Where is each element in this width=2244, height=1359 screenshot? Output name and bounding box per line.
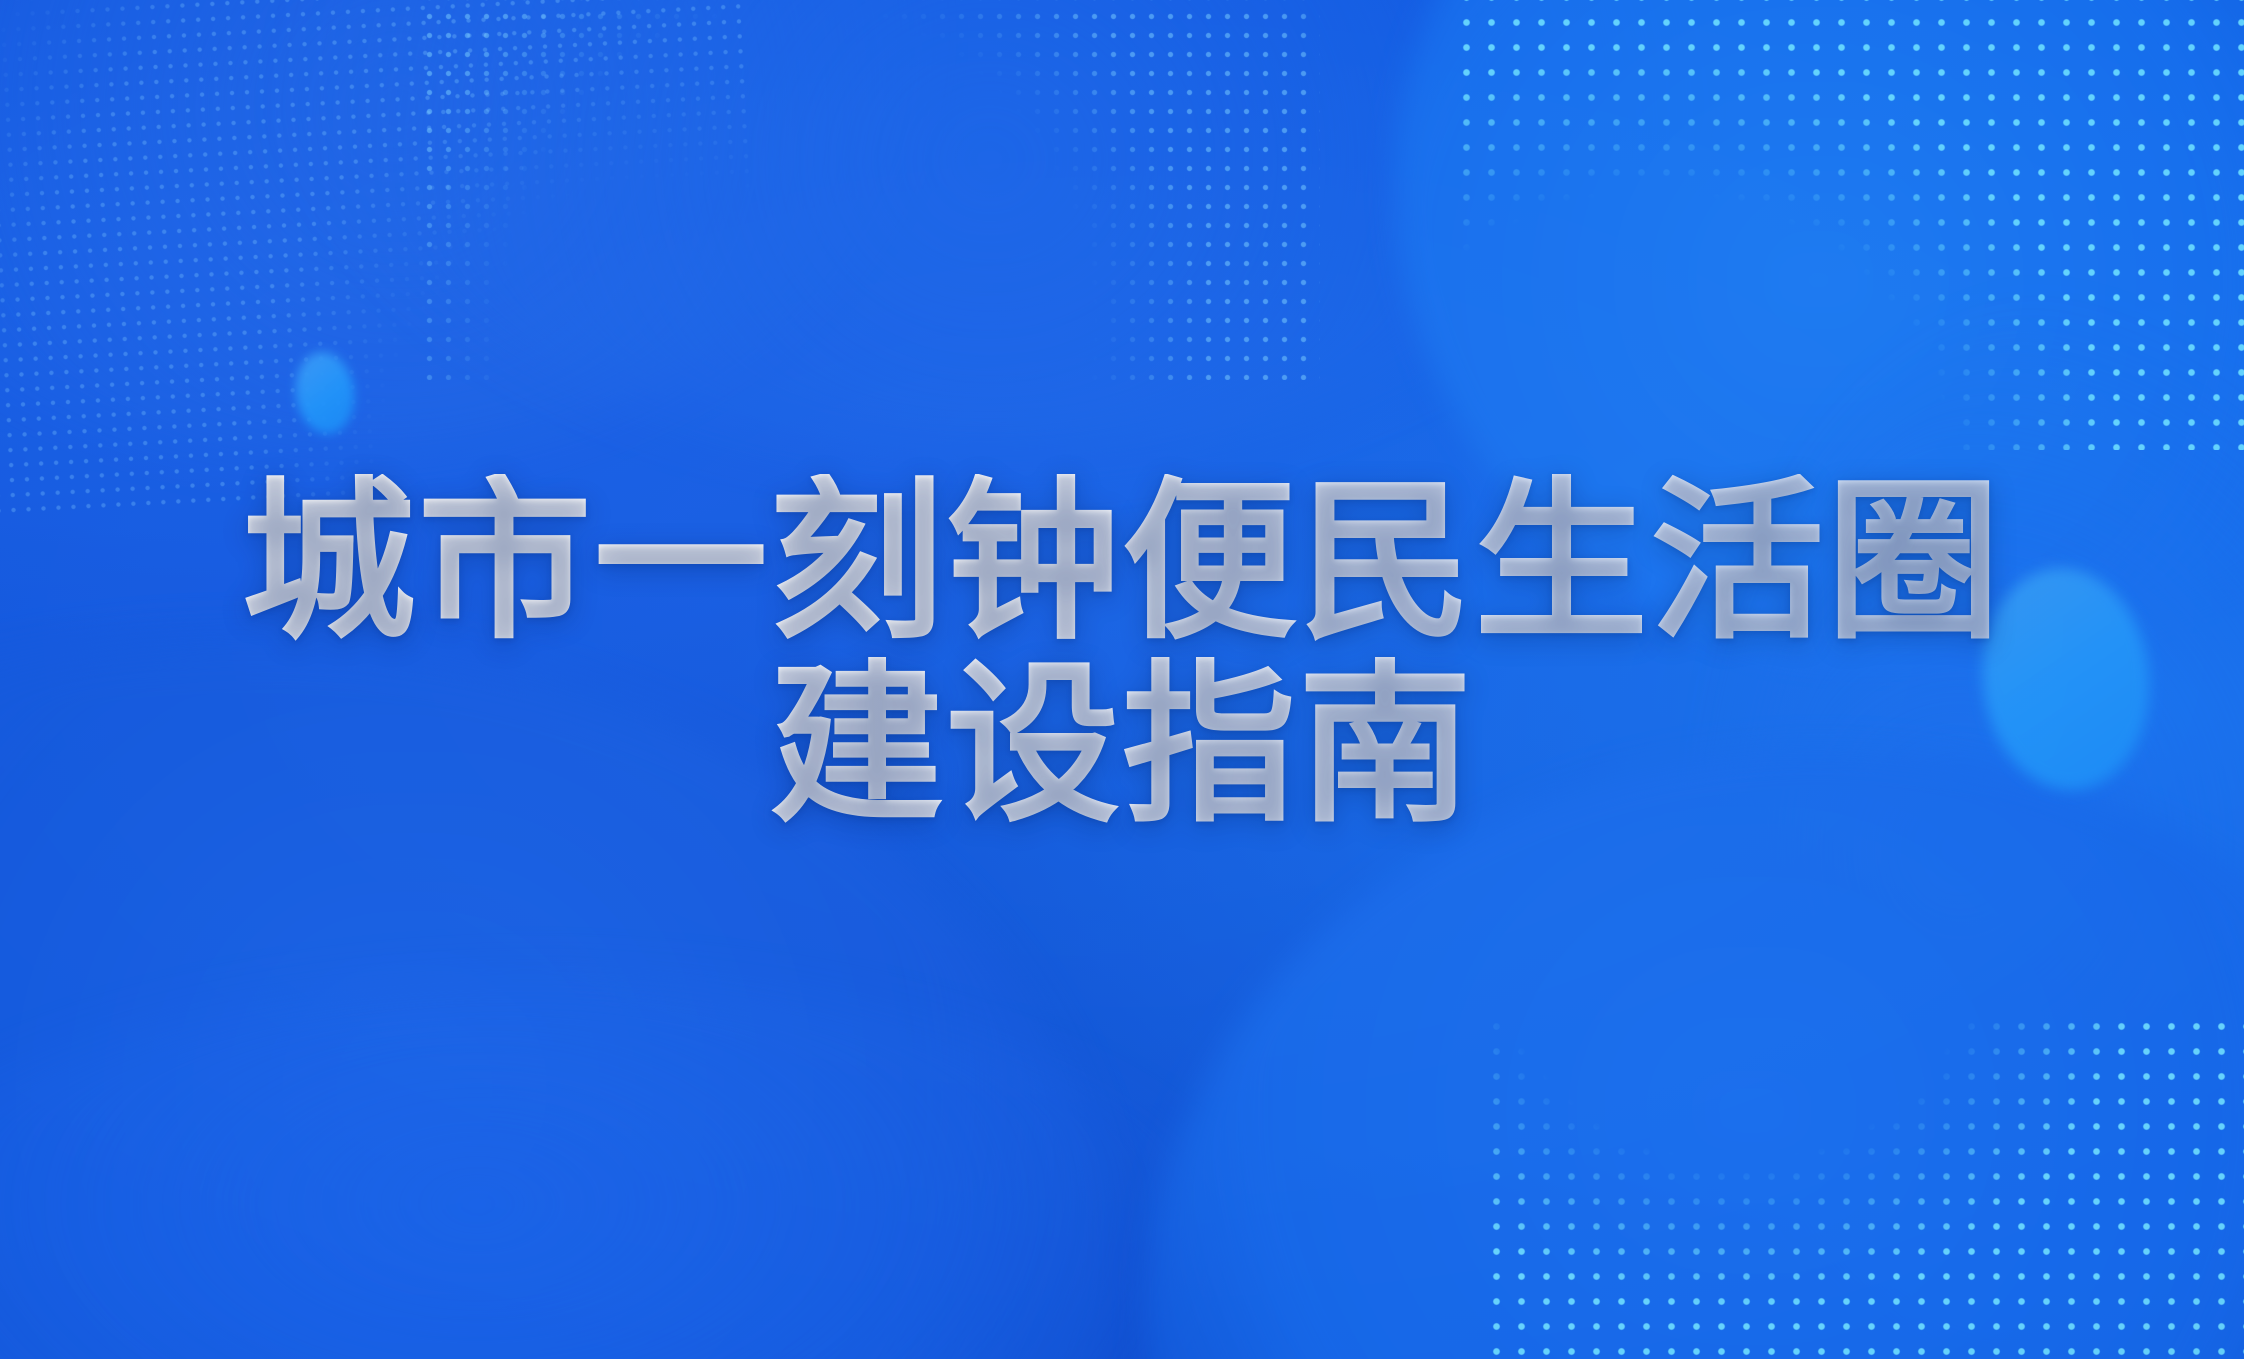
poster-title-line-2: 建设指南 [0,657,2244,834]
halftone-dots-top-left [0,0,766,526]
blob-top-middle [240,0,1740,460]
poster-title: 城市一刻钟便民生活圈 建设指南 [0,474,2244,835]
accent-ellipse-left [291,348,360,437]
poster-banner: 城市一刻钟便民生活圈 建设指南 [0,0,2244,1359]
halftone-dots-top-right [1454,0,2244,450]
poster-title-line-1: 城市一刻钟便民生活圈 [0,474,2244,651]
blob-top-left [0,0,930,460]
halftone-dots-top-center [420,0,1320,380]
halftone-dots-bottom-right [1484,1014,2244,1359]
blob-bottom-left-wave [0,980,1320,1359]
